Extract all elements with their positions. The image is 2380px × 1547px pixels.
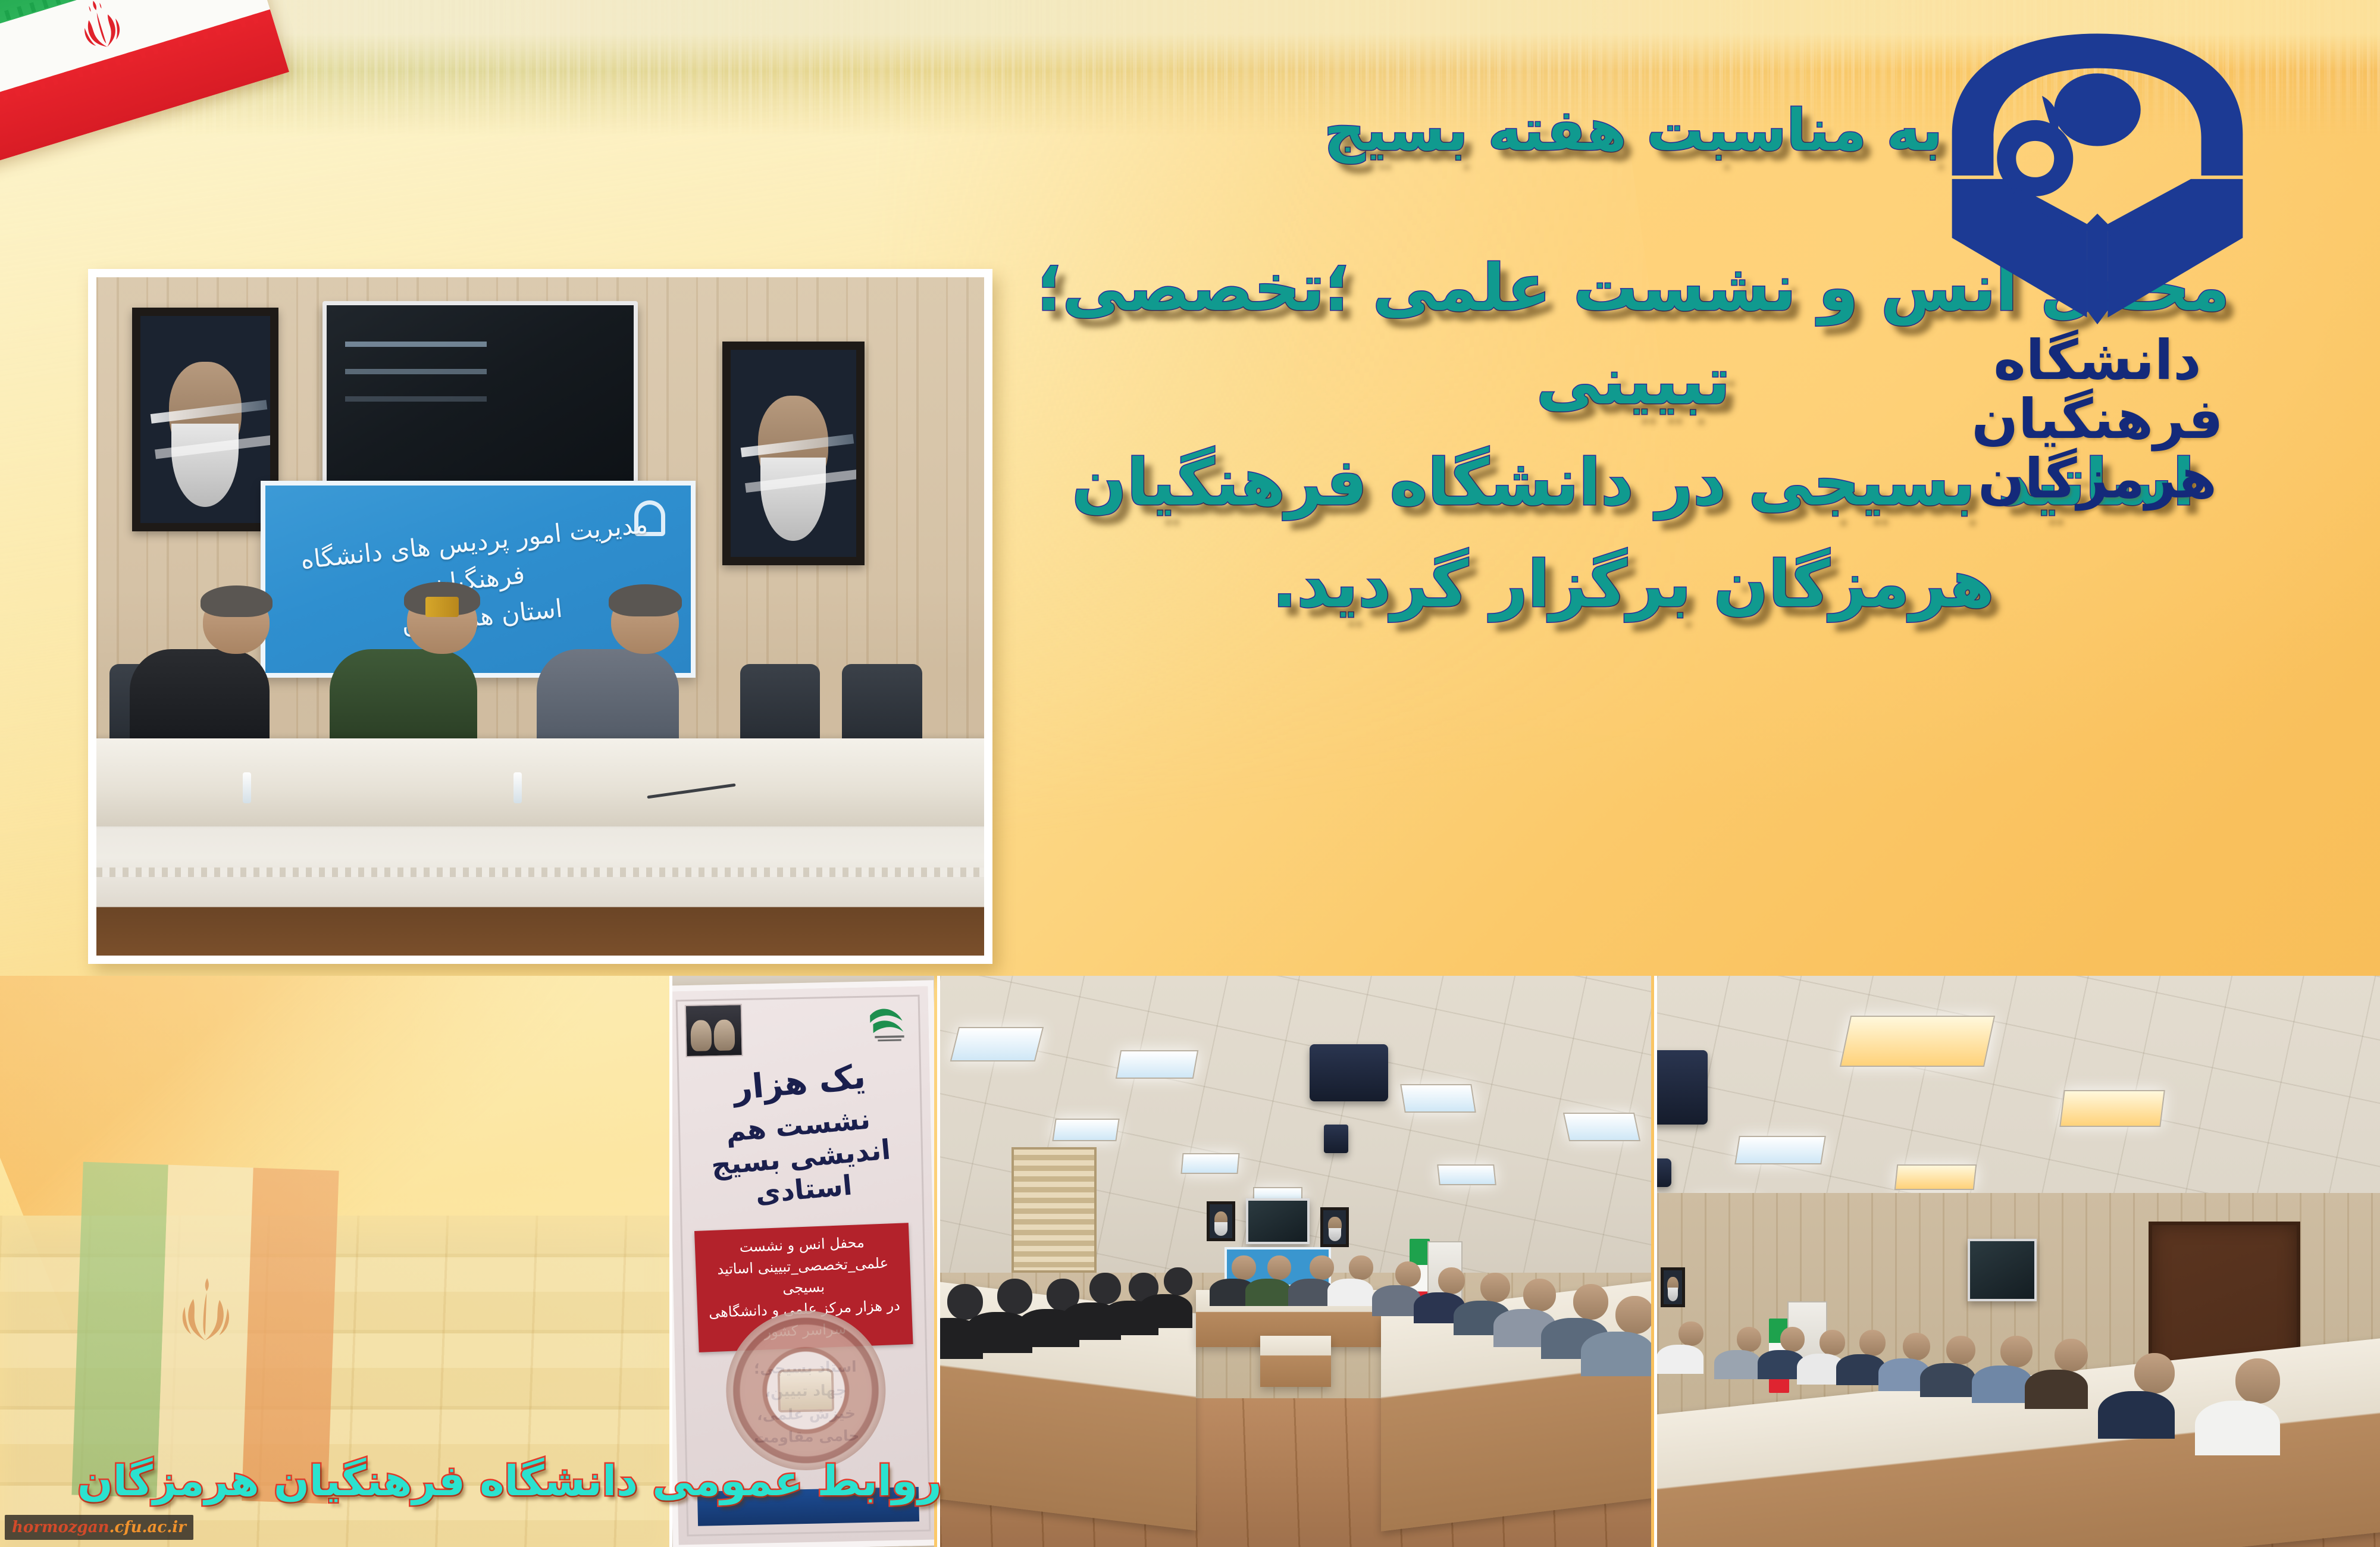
attendee-seat [2134,1353,2175,1433]
imam-khomeini-portrait [132,308,278,531]
meeting-room-scene [1657,976,2380,1547]
announcement-line-3: هرمزگان برگزار گردید. [994,538,2273,632]
meeting-room-scene [940,976,1651,1547]
panelist [611,591,679,738]
ceiling-projector [1310,1044,1388,1101]
ceiling-light-panel [1562,1113,1640,1141]
site-watermark: hormozgan.cfu.ac.ir [5,1515,193,1540]
attendee-seat [1615,1296,1651,1370]
attendee-seat [2055,1339,2088,1404]
imam-khomeini-portrait [1207,1201,1235,1241]
ceiling-light-panel [1894,1164,1977,1190]
watermark-suffix: .cfu.ac.ir [109,1518,186,1536]
head-table-panel-photo: مدیریت امور پردیس های دانشگاه فرهنگیان ا… [88,269,992,964]
hero-photo-content: مدیریت امور پردیس های دانشگاه فرهنگیان ا… [96,277,984,956]
attendee-seat [1946,1336,1975,1393]
ceiling-light-panel [1840,1016,1995,1067]
standee-red-banner-line-1: محفل انس و نشست علمی_تخصصی_تبیینی اساتید… [701,1230,905,1302]
panelist [203,593,270,738]
ceiling-camera [1324,1125,1348,1153]
ayatollah-khamenei-portrait [1320,1207,1349,1247]
wall-display-screen [1968,1239,2036,1302]
standee-inner: یک هزار نشست هم اندیشی بسیج استادی محفل … [676,994,931,1536]
ayatollah-khamenei-portrait [1661,1267,1685,1307]
small-center-table [1260,1336,1332,1387]
ceiling-projector [1654,1050,1708,1125]
ceiling-light-panel [1116,1050,1199,1079]
window-blind [1011,1147,1097,1273]
university-name-line-1: دانشگاه فرهنگیان [1892,331,2303,449]
ceiling-light-panel [1400,1084,1476,1113]
conference-hall-attendees-photo [1654,976,2380,1547]
watermark-domain: hormozgan [12,1518,109,1536]
ceiling-light-panel [1052,1119,1119,1141]
poster-canvas: به مناسبت هفته بسیج محفل انس و نشست علمی… [0,0,2380,1547]
farhangian-university-book-emblem-icon [1907,18,2288,333]
panelist-military-officer [407,590,477,739]
wall-display-screen [1246,1198,1310,1244]
water-bottle [513,772,522,803]
head-table [96,738,984,826]
attendee-seat [1164,1267,1192,1324]
ceiling-light-panel [1734,1136,1825,1164]
wall-display-screen [322,301,638,511]
university-logo: دانشگاه فرهنگیان هرمزگان [1892,18,2303,488]
university-name-line-2: هرمزگان [1892,449,2303,508]
ayatollah-khamenei-portrait [722,342,865,565]
standee-title-line-2: نشست هم اندیشی بسیج استادی [687,1099,916,1215]
ceiling-light-panel [2060,1090,2166,1127]
ceiling-camera [1654,1158,1671,1187]
leaders-portrait-inset [685,1004,743,1057]
attendee-seat [2235,1358,2280,1450]
ceiling-light-panel [950,1027,1044,1061]
conference-hall-wide-photo [937,976,1651,1547]
attendee-seat-cleric [1349,1255,1373,1301]
water-bottle [243,772,251,803]
basij-org-logo-icon [867,1003,912,1045]
ceiling-light-panel [1181,1153,1240,1174]
ceiling-light-panel [1437,1164,1496,1185]
public-relations-signature: روابط عمومی دانشگاه فرهنگیان هرمزگان [77,1457,942,1505]
attendee-seat-cleric [1678,1321,1703,1370]
university-name: دانشگاه فرهنگیان هرمزگان [1892,331,2303,508]
